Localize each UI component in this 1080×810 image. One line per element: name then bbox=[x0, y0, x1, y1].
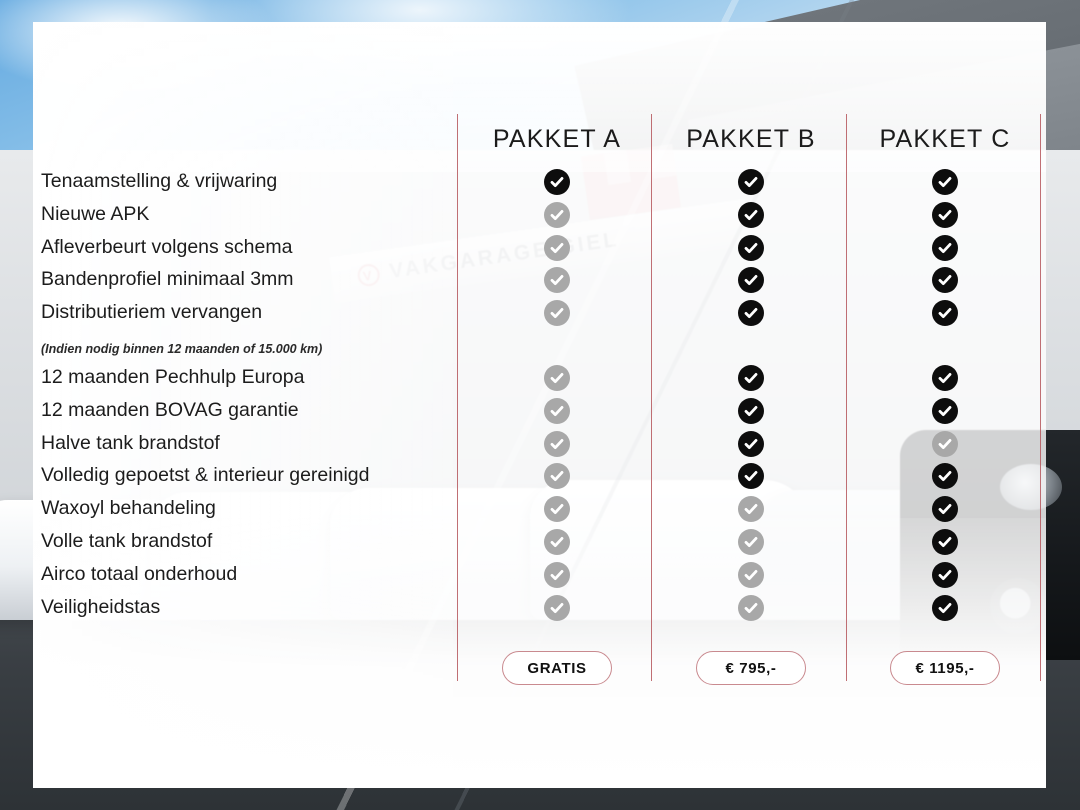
feature-mark-c bbox=[932, 300, 958, 326]
feature-mark-c bbox=[932, 496, 958, 522]
feature-mark-c bbox=[932, 267, 958, 293]
feature-label: Volledig gepoetst & interieur gereinigd bbox=[41, 466, 369, 486]
feature-mark-a bbox=[544, 463, 570, 489]
feature-label: Tenaamstelling & vrijwaring bbox=[41, 172, 277, 192]
feature-mark-a bbox=[544, 235, 570, 261]
feature-mark-b bbox=[738, 398, 764, 424]
feature-label: Nieuwe APK bbox=[41, 205, 149, 225]
price-button-c[interactable]: € 1195,- bbox=[890, 651, 1000, 685]
feature-mark-b bbox=[738, 431, 764, 457]
column-divider-4 bbox=[1040, 114, 1041, 681]
feature-label: Halve tank brandstof bbox=[41, 434, 220, 454]
feature-mark-c bbox=[932, 202, 958, 228]
price-button-a[interactable]: GRATIS bbox=[502, 651, 612, 685]
feature-mark-a bbox=[544, 202, 570, 228]
feature-mark-b bbox=[738, 562, 764, 588]
feature-mark-a bbox=[544, 431, 570, 457]
feature-label: Afleverbeurt volgens schema bbox=[41, 238, 292, 258]
feature-mark-c bbox=[932, 595, 958, 621]
column-divider-2 bbox=[651, 114, 652, 681]
feature-mark-c bbox=[932, 169, 958, 195]
feature-mark-a bbox=[544, 529, 570, 555]
feature-mark-a bbox=[544, 398, 570, 424]
screenshot-root: V VAKGARAGE GIEL PAKKET APAKKET BPAKKET … bbox=[0, 0, 1080, 810]
column-header-b: PAKKET B bbox=[641, 125, 861, 154]
column-header-a: PAKKET A bbox=[447, 125, 667, 154]
feature-mark-a bbox=[544, 267, 570, 293]
feature-mark-b bbox=[738, 202, 764, 228]
feature-mark-b bbox=[738, 365, 764, 391]
feature-note: (Indien nodig binnen 12 maanden of 15.00… bbox=[41, 342, 322, 356]
feature-label: Airco totaal onderhoud bbox=[41, 565, 237, 585]
feature-mark-a bbox=[544, 562, 570, 588]
column-header-c: PAKKET C bbox=[835, 125, 1055, 154]
feature-mark-a bbox=[544, 496, 570, 522]
feature-mark-b bbox=[738, 267, 764, 293]
feature-mark-b bbox=[738, 169, 764, 195]
feature-mark-b bbox=[738, 300, 764, 326]
package-comparison-table: PAKKET APAKKET BPAKKET CTenaamstelling &… bbox=[0, 0, 1080, 810]
feature-mark-c bbox=[932, 529, 958, 555]
feature-label: Bandenprofiel minimaal 3mm bbox=[41, 270, 294, 290]
feature-mark-b bbox=[738, 235, 764, 261]
feature-mark-b bbox=[738, 463, 764, 489]
feature-mark-b bbox=[738, 496, 764, 522]
feature-label: Distributieriem vervangen bbox=[41, 303, 262, 323]
feature-label: Veiligheidstas bbox=[41, 598, 160, 618]
feature-label: 12 maanden BOVAG garantie bbox=[41, 401, 299, 421]
feature-mark-c bbox=[932, 463, 958, 489]
feature-mark-b bbox=[738, 595, 764, 621]
feature-mark-a bbox=[544, 300, 570, 326]
feature-mark-a bbox=[544, 595, 570, 621]
feature-mark-c bbox=[932, 365, 958, 391]
column-divider-1 bbox=[457, 114, 458, 681]
feature-mark-c bbox=[932, 398, 958, 424]
feature-mark-a bbox=[544, 365, 570, 391]
feature-label: Volle tank brandstof bbox=[41, 532, 212, 552]
feature-mark-c bbox=[932, 431, 958, 457]
feature-label: Waxoyl behandeling bbox=[41, 499, 216, 519]
feature-label: 12 maanden Pechhulp Europa bbox=[41, 368, 304, 388]
price-button-b[interactable]: € 795,- bbox=[696, 651, 806, 685]
feature-mark-b bbox=[738, 529, 764, 555]
feature-mark-c bbox=[932, 562, 958, 588]
column-divider-3 bbox=[846, 114, 847, 681]
feature-mark-c bbox=[932, 235, 958, 261]
feature-mark-a bbox=[544, 169, 570, 195]
